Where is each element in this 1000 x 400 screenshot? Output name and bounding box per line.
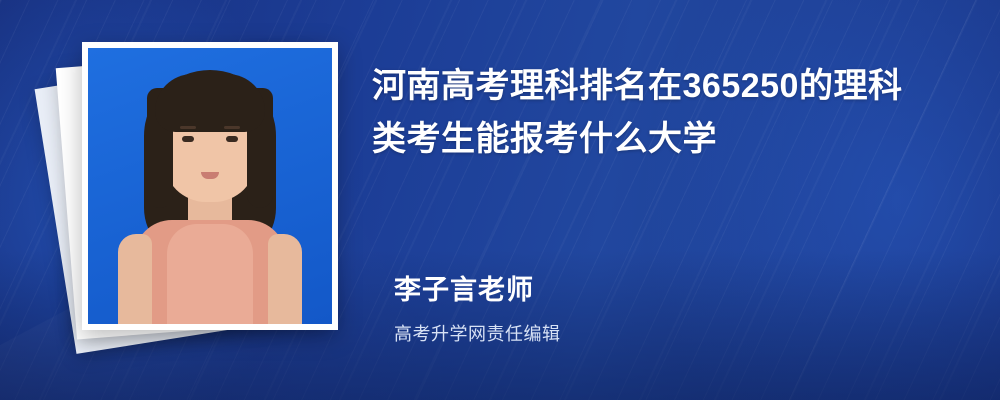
portrait-photo (88, 48, 332, 324)
portrait-dress-highlight (167, 224, 253, 324)
author-name: 李子言老师 (394, 272, 934, 310)
photo-card-stack (52, 38, 352, 358)
headline-line-1: 河南高考理科排名在365250的理科 (372, 60, 972, 113)
portrait-eye-right (226, 136, 238, 142)
portrait-hair-fringe (155, 74, 265, 132)
headline-line-2: 类考生能报考什么大学 (372, 113, 972, 166)
headline-block: 河南高考理科排名在365250的理科 类考生能报考什么大学 (372, 60, 972, 165)
photo-card-front (82, 42, 338, 330)
banner-root: 河南高考理科排名在365250的理科 类考生能报考什么大学 李子言老师 高考升学… (0, 0, 1000, 400)
portrait-arm-left (118, 234, 152, 324)
author-block: 李子言老师 高考升学网责任编辑 (394, 272, 934, 346)
portrait-arm-right (268, 234, 302, 324)
portrait-eyebrow-left (180, 126, 196, 129)
portrait-eyebrow-right (224, 126, 240, 129)
author-role: 高考升学网责任编辑 (394, 320, 934, 346)
portrait-eye-left (182, 136, 194, 142)
